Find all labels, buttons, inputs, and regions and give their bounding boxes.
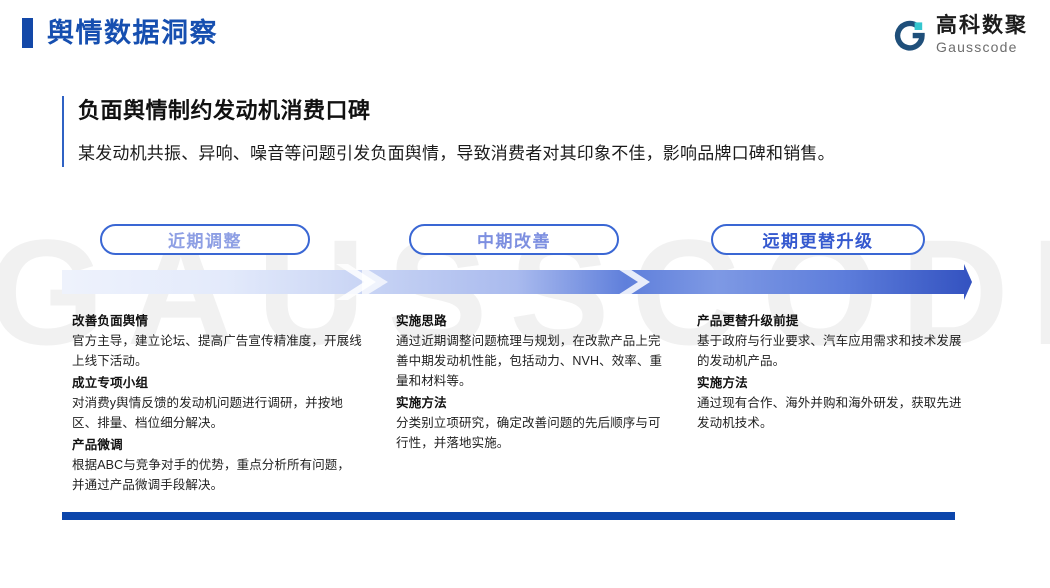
block-body: 分类别立项研究，确定改善问题的先后顺序与可行性，并落地实施。 <box>396 413 666 453</box>
block-title: 产品微调 <box>72 435 362 455</box>
block-title: 成立专项小组 <box>72 373 362 393</box>
slide-header: 舆情数据洞察 高科数聚 Gausscode <box>0 0 1050 70</box>
content-block: 产品微调 根据ABC与竞争对手的优势，重点分析所有问题，并通过产品微调手段解决。 <box>72 435 362 495</box>
block-title: 改善负面舆情 <box>72 311 362 331</box>
block-title: 实施思路 <box>396 311 666 331</box>
content-columns: 改善负面舆情 官方主导，建立论坛、提高广告宣传精准度，开展线上线下活动。 成立专… <box>0 311 1050 501</box>
content-block: 产品更替升级前提 基于政府与行业要求、汽车应用需求和技术发展的发动机产品。 <box>697 311 967 371</box>
gausscode-logo-icon <box>894 19 927 52</box>
brand-logo: 高科数聚 Gausscode <box>894 14 1028 56</box>
column-long-term: 产品更替升级前提 基于政府与行业要求、汽车应用需求和技术发展的发动机产品。 实施… <box>697 311 967 435</box>
block-title: 实施方法 <box>396 393 666 413</box>
phase-pill-mid-term[interactable]: 中期改善 <box>409 224 619 255</box>
content-block: 成立专项小组 对消费y舆情反馈的发动机问题进行调研，并按地区、排量、档位细分解决… <box>72 373 362 433</box>
block-body: 通过近期调整问题梳理与规划，在改款产品上完善中期发动机性能，包括动力、NVH、效… <box>396 331 666 391</box>
slide-root: GAUSSCODE 舆情数据洞察 高科数聚 Gausscode 负面舆情制约发动… <box>0 0 1050 588</box>
content-block: 改善负面舆情 官方主导，建立论坛、提高广告宣传精准度，开展线上线下活动。 <box>72 311 362 371</box>
title-marker-icon <box>22 18 33 48</box>
page-title: 舆情数据洞察 <box>47 17 218 49</box>
block-body: 基于政府与行业要求、汽车应用需求和技术发展的发动机产品。 <box>697 331 967 371</box>
intro-block: 负面舆情制约发动机消费口碑 某发动机共振、异响、噪音等问题引发负面舆情，导致消费… <box>62 96 962 167</box>
phase-pill-near-term[interactable]: 近期调整 <box>100 224 310 255</box>
block-body: 官方主导，建立论坛、提高广告宣传精准度，开展线上线下活动。 <box>72 331 362 371</box>
footer-bar <box>62 512 955 520</box>
content-block: 实施思路 通过近期调整问题梳理与规划，在改款产品上完善中期发动机性能，包括动力、… <box>396 311 666 391</box>
logo-english-name: Gausscode <box>936 39 1028 56</box>
page-title-group: 舆情数据洞察 <box>22 17 218 49</box>
block-body: 根据ABC与竞争对手的优势，重点分析所有问题，并通过产品微调手段解决。 <box>72 455 362 495</box>
phase-pill-long-term[interactable]: 远期更替升级 <box>711 224 925 255</box>
intro-subheading: 某发动机共振、异响、噪音等问题引发负面舆情，导致消费者对其印象不佳，影响品牌口碑… <box>78 141 962 167</box>
right-arrow-progress-icon <box>62 264 972 300</box>
column-near-term: 改善负面舆情 官方主导，建立论坛、提高广告宣传精准度，开展线上线下活动。 成立专… <box>72 311 362 497</box>
logo-chinese-name: 高科数聚 <box>936 14 1028 37</box>
block-body: 对消费y舆情反馈的发动机问题进行调研，并按地区、排量、档位细分解决。 <box>72 393 362 433</box>
column-mid-term: 实施思路 通过近期调整问题梳理与规划，在改款产品上完善中期发动机性能，包括动力、… <box>396 311 666 455</box>
content-block: 实施方法 通过现有合作、海外并购和海外研发，获取先进发动机技术。 <box>697 373 967 433</box>
block-title: 产品更替升级前提 <box>697 311 967 331</box>
phase-pill-group: 近期调整 中期改善 远期更替升级 <box>0 224 1050 256</box>
logo-text-group: 高科数聚 Gausscode <box>936 14 1028 56</box>
content-block: 实施方法 分类别立项研究，确定改善问题的先后顺序与可行性，并落地实施。 <box>396 393 666 453</box>
block-body: 通过现有合作、海外并购和海外研发，获取先进发动机技术。 <box>697 393 967 433</box>
intro-heading: 负面舆情制约发动机消费口碑 <box>78 96 962 126</box>
block-title: 实施方法 <box>697 373 967 393</box>
